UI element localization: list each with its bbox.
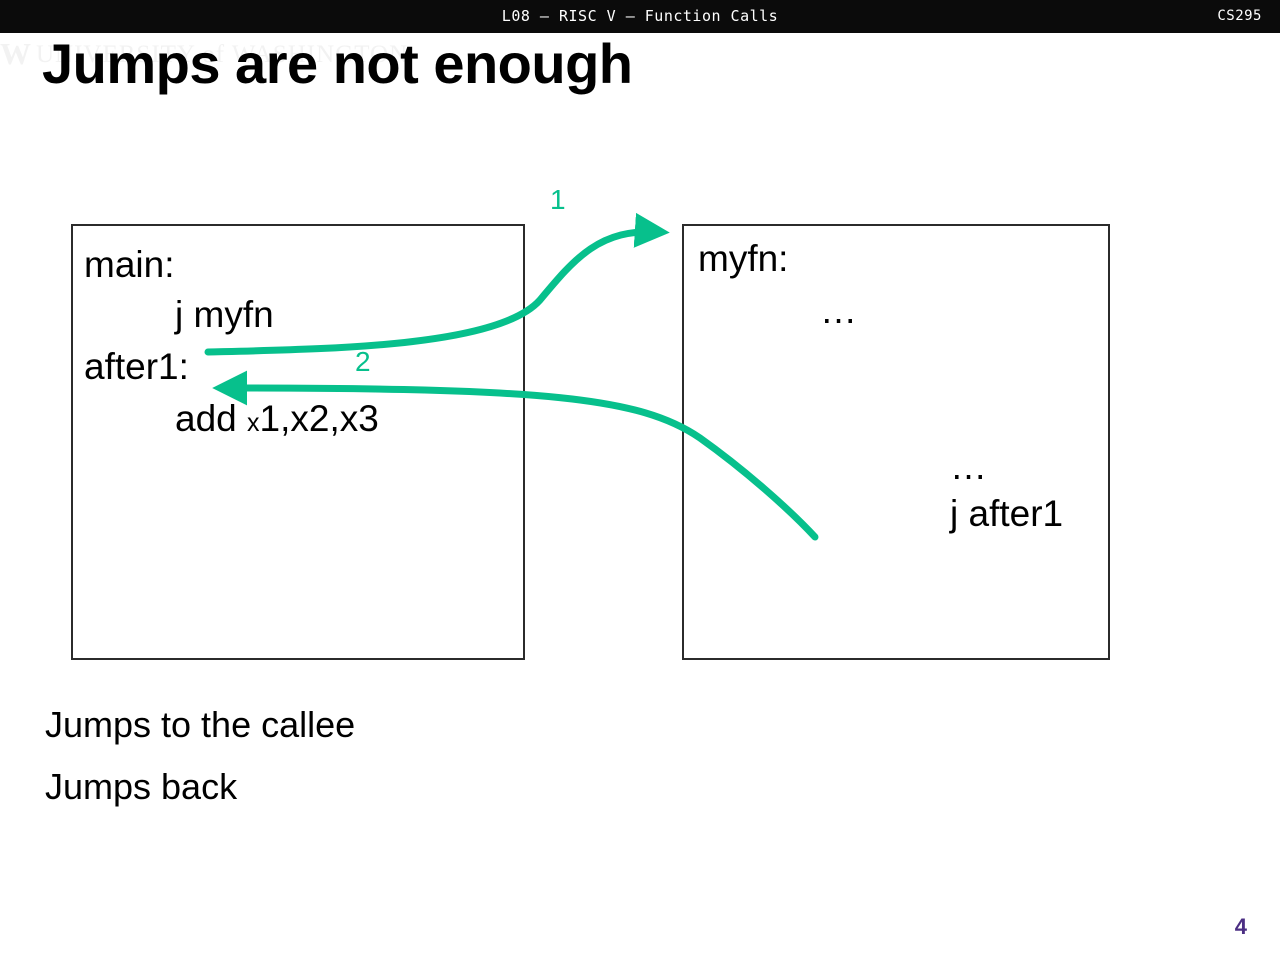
code-box-myfn <box>682 224 1110 660</box>
code-line-add-instruction: add x1,x2,x3 <box>175 400 379 437</box>
add-operands: 1,x2,x3 <box>260 398 379 439</box>
page-title: Jumps are not enough <box>42 31 633 96</box>
code-line-after1-label: after1: <box>84 348 189 385</box>
code-line-main-label: main: <box>84 246 174 283</box>
note-jumps-back: Jumps back <box>45 769 237 805</box>
return-arrow-label: 2 <box>355 348 371 376</box>
code-box-main <box>71 224 525 660</box>
watermark-w-logo: W <box>0 36 32 71</box>
code-line-ellipsis-bottom: … <box>950 448 987 485</box>
add-register-prefix: x <box>247 409 260 437</box>
call-arrow-label: 1 <box>550 186 566 214</box>
header-course-code: CS295 <box>1217 0 1262 33</box>
code-line-jump-after1: j after1 <box>950 495 1063 532</box>
code-line-ellipsis-top: … <box>820 292 857 329</box>
add-mnemonic: add <box>175 398 247 439</box>
code-line-myfn-label: myfn: <box>698 240 788 277</box>
header-lecture-title: L08 – RISC V – Function Calls <box>0 0 1280 33</box>
code-line-jump-to-myfn: j myfn <box>175 296 274 333</box>
note-jumps-to-callee: Jumps to the callee <box>45 707 355 743</box>
slide-canvas: L08 – RISC V – Function Calls CS295 WUNI… <box>0 0 1280 960</box>
page-number: 4 <box>1235 914 1247 940</box>
